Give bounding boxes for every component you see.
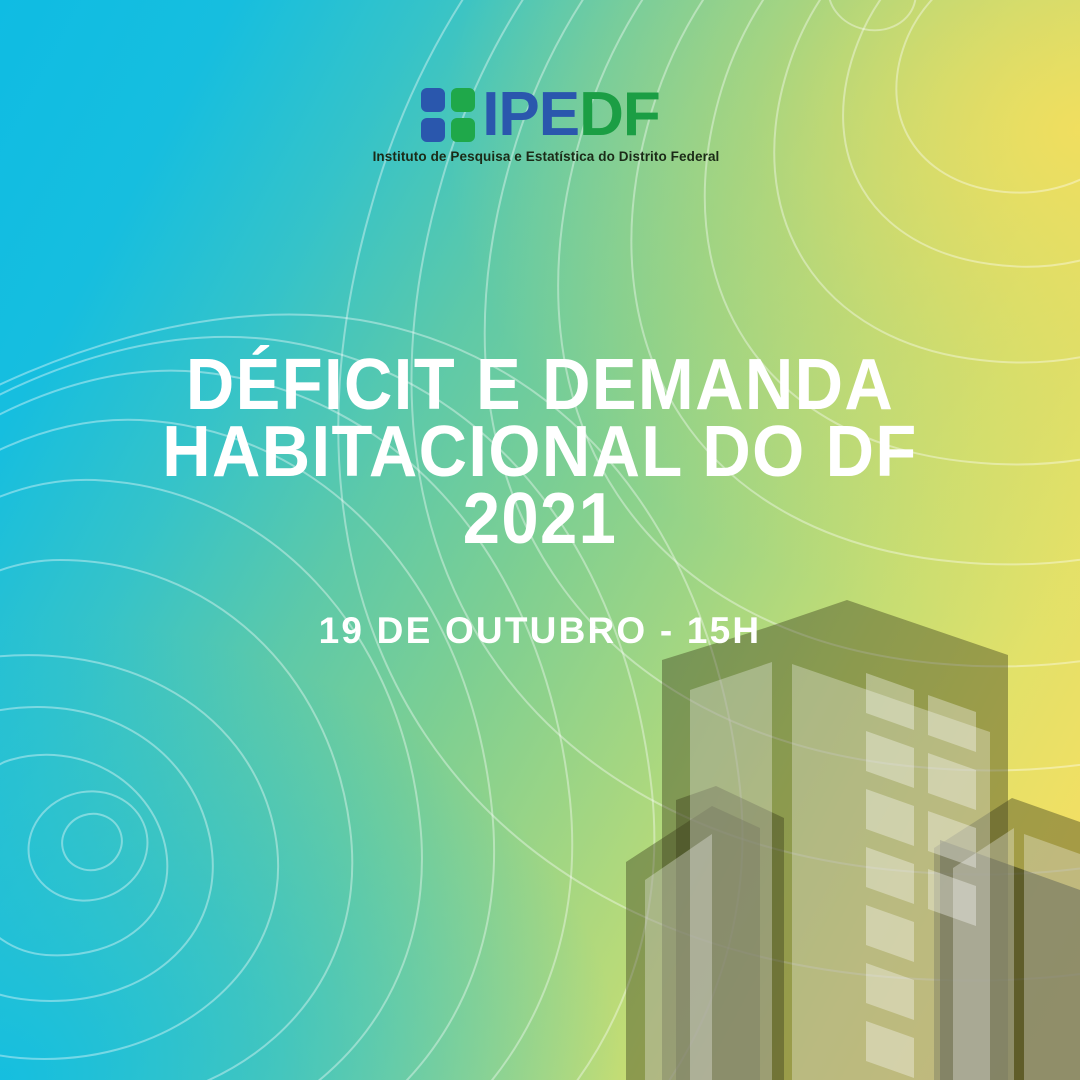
title-line-1: DÉFICIT E DEMANDA	[75, 352, 1005, 419]
ipedf-logo: IPEDF Instituto de Pesquisa e Estatístic…	[0, 84, 1080, 164]
page-title: DÉFICIT E DEMANDA HABITACIONAL DO DF 202…	[0, 352, 1080, 553]
title-line-2: HABITACIONAL DO DF	[75, 419, 1005, 486]
poster-canvas: IPEDF Instituto de Pesquisa e Estatístic…	[0, 0, 1080, 1080]
four-rounded-squares-grid-icon	[420, 87, 476, 143]
logo-subtitle: Instituto de Pesquisa e Estatística do D…	[373, 149, 720, 164]
logo-acronym: IPEDF	[482, 84, 660, 146]
logo-acronym-ipe: IPE	[482, 80, 579, 149]
logo-acronym-df: DF	[579, 80, 660, 149]
title-line-3: 2021	[75, 486, 1005, 553]
event-date-time: 19 DE OUTUBRO - 15H	[0, 610, 1080, 652]
logo-row: IPEDF	[420, 84, 660, 146]
